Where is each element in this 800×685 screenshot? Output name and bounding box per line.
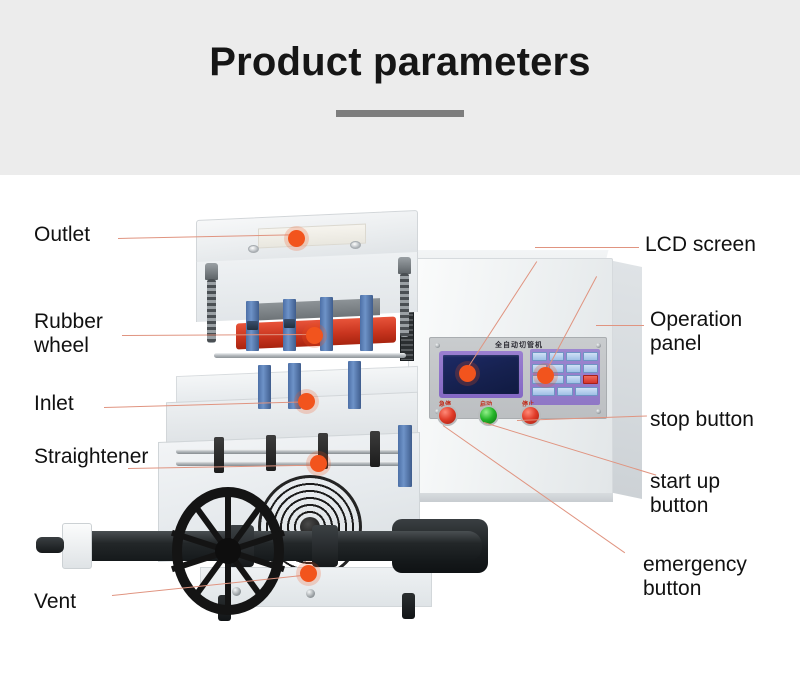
panel-screw [596, 409, 601, 414]
keypad-row [532, 352, 598, 361]
callout-label-vent: Vent [34, 590, 76, 614]
spring-cap [205, 263, 218, 280]
keypad-key[interactable] [566, 364, 581, 373]
straightener-post [214, 437, 224, 473]
guide-clip [247, 321, 258, 330]
callout-label-stop-button: stop button [650, 408, 754, 432]
lcd-screen[interactable] [439, 351, 523, 398]
base-screw [306, 589, 315, 598]
control-panel: 全自动切管机 [429, 337, 607, 419]
marker-dot-outlet [288, 230, 305, 247]
inlet-guide [348, 361, 361, 409]
callout-label-lcd-screen: LCD screen [645, 233, 756, 257]
shaft-end-nub [36, 537, 64, 553]
panel-screw [596, 343, 601, 348]
tension-spring [207, 279, 216, 343]
panel-screw [435, 343, 440, 348]
feed-rail [214, 353, 406, 358]
marker-dot-straightener [310, 455, 327, 472]
marker-dot-vent [300, 565, 317, 582]
callout-label-rubber-wheel: Rubber wheel [34, 310, 103, 357]
callout-label-operation-panel: Operation panel [650, 308, 742, 355]
keypad-key[interactable] [557, 387, 572, 396]
keypad-key[interactable] [532, 387, 555, 396]
emergency-button[interactable] [439, 407, 456, 424]
title-underline-rule [336, 110, 464, 117]
page-title: Product parameters [0, 40, 800, 85]
keypad-key[interactable] [566, 352, 581, 361]
marker-dot-lcd-screen [459, 365, 476, 382]
callout-label-emergency-button: emergency button [643, 553, 747, 600]
callout-label-inlet: Inlet [34, 392, 74, 416]
head-mount-hole [350, 241, 361, 249]
marker-dot-operation-panel [537, 367, 554, 384]
head-mount-hole [248, 245, 259, 253]
start-up-button[interactable] [480, 407, 497, 424]
page-header: Product parameters [0, 0, 800, 175]
handwheel[interactable] [172, 487, 284, 615]
callout-label-straightener: Straightener [34, 445, 148, 469]
guide-clip [284, 319, 295, 328]
keypad-row [532, 387, 598, 396]
callout-label-outlet: Outlet [34, 223, 90, 247]
physical-button-row: 急停 启动 停止 [439, 400, 559, 419]
marker-dot-rubber-wheel [306, 327, 323, 344]
leader-line-lcd-screen-tail [535, 247, 639, 248]
keypad-key[interactable] [566, 375, 581, 384]
straightener-guide [398, 425, 412, 487]
marker-dot-inlet [298, 393, 315, 410]
keypad-key[interactable] [583, 364, 598, 373]
keypad-key[interactable] [532, 352, 547, 361]
machine-leg [402, 593, 415, 619]
wire-guide [360, 295, 373, 351]
spring-cap [398, 257, 411, 274]
shaft-end-cap [62, 523, 92, 569]
stop-button[interactable] [522, 407, 539, 424]
leader-line-operation-panel-tail [596, 325, 644, 326]
callout-label-start-up-button: start up button [650, 470, 720, 517]
cabinet-base-shadow [410, 493, 613, 502]
handwheel-hub [215, 538, 241, 564]
straightener-post [370, 431, 380, 467]
shaft-collar [312, 525, 338, 567]
keypad-key[interactable] [583, 352, 598, 361]
diagram-stage: 全自动切管机 [0, 175, 800, 685]
wire-guide [320, 297, 333, 351]
keypad-key-alarm[interactable] [583, 375, 598, 384]
keypad-key[interactable] [575, 387, 598, 396]
product-parameters-page: Product parameters 全自动切管机 [0, 0, 800, 685]
tension-spring [400, 273, 409, 337]
lcd-glass [443, 355, 519, 394]
